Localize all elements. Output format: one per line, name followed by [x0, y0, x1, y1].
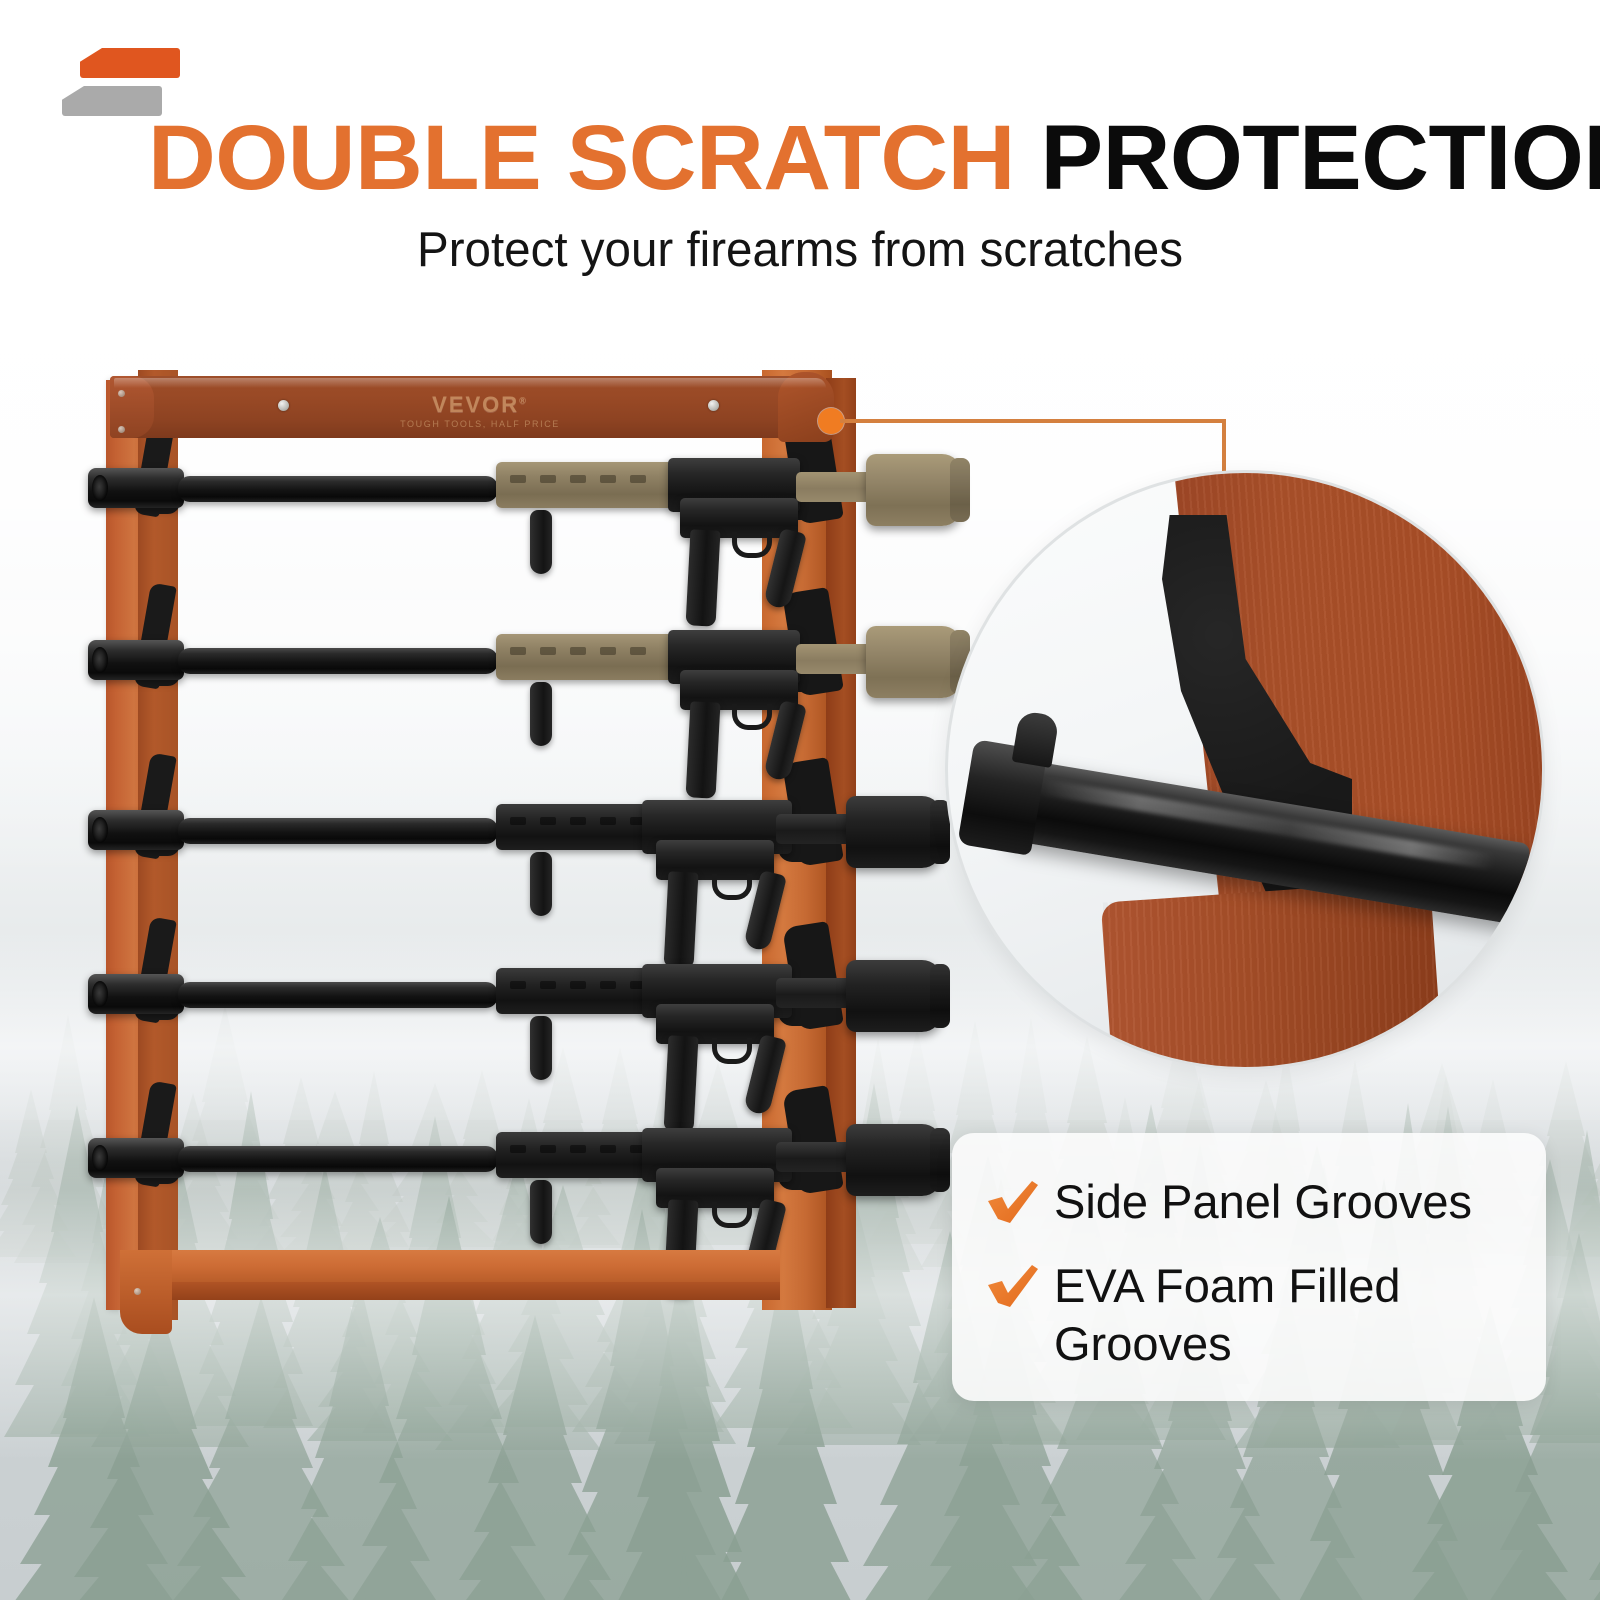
- rifle-handguard: [496, 968, 648, 1014]
- page-title: DOUBLE SCRATCH PROTECTION: [148, 112, 1505, 204]
- headline-accent: DOUBLE SCRATCH: [148, 107, 1015, 209]
- handguard-rail-slot: [600, 981, 616, 989]
- rifle-buffer-tube: [776, 978, 854, 1008]
- rifle-muzzle: [88, 974, 184, 1014]
- rifle-vertical-foregrip: [530, 510, 552, 574]
- rifle-row-3: [60, 768, 900, 938]
- rifle-vertical-foregrip: [530, 852, 552, 916]
- detail-front-sight-lug: [1012, 710, 1060, 768]
- rifle-barrel: [178, 648, 498, 674]
- rifle-barrel: [178, 818, 498, 844]
- handguard-rail-slot: [570, 981, 586, 989]
- checkmark-icon: [986, 1179, 1040, 1225]
- feature-item: Side Panel Grooves: [986, 1173, 1512, 1231]
- headline-primary: PROTECTION: [1041, 107, 1600, 209]
- gun-rack-product: VEVOR® TOUGH TOOLS, HALF PRICE: [90, 370, 880, 1320]
- rifle-stock: [866, 626, 962, 698]
- rifle-row-4: [60, 932, 900, 1102]
- mounting-screw: [118, 426, 125, 433]
- rifle-handguard: [496, 462, 674, 508]
- handguard-rail-slot: [630, 475, 646, 483]
- rifle-stock: [866, 454, 962, 526]
- handguard-rail-slot: [510, 475, 526, 483]
- rifle-buffer-tube: [776, 814, 854, 844]
- rifle-vertical-foregrip: [530, 682, 552, 746]
- handguard-rail-slot: [540, 981, 556, 989]
- mounting-screw: [278, 400, 289, 411]
- rifle-barrel: [178, 476, 498, 502]
- feature-label: Side Panel Grooves: [1054, 1173, 1472, 1231]
- rifle-stock: [846, 796, 942, 868]
- rifle-vertical-foregrip: [530, 1180, 552, 1244]
- handguard-rail-slot: [540, 817, 556, 825]
- rifle-muzzle: [88, 468, 184, 508]
- handguard-rail-slot: [510, 1145, 526, 1153]
- logo-chevron-bottom: [62, 86, 162, 116]
- handguard-rail-slot: [570, 647, 586, 655]
- handguard-rail-slot: [630, 647, 646, 655]
- callout-line-horizontal: [840, 419, 1226, 423]
- product-marketing-image: DOUBLE SCRATCH PROTECTION Protect your f…: [0, 0, 1600, 1600]
- detail-zoom-circle: [945, 470, 1545, 1070]
- rifle-buffer-tube: [796, 472, 874, 502]
- rifle-handguard: [496, 804, 648, 850]
- rifle-trigger-guard: [712, 1038, 752, 1064]
- rifle-trigger-guard: [732, 704, 772, 730]
- handguard-rail-slot: [600, 475, 616, 483]
- rack-bottom-rail: [120, 1250, 780, 1286]
- rack-bottom-rail-edge: [120, 1282, 780, 1300]
- rifle-trigger-guard: [712, 1202, 752, 1228]
- rifle-trigger-guard: [732, 532, 772, 558]
- feature-item: EVA Foam Filled Grooves: [986, 1257, 1512, 1373]
- rack-left-foot: [120, 1250, 172, 1334]
- rifle-stock: [846, 1124, 942, 1196]
- rifle-row-5: [60, 1096, 900, 1266]
- handguard-rail-slot: [510, 817, 526, 825]
- rifle-row-1: [60, 426, 900, 596]
- rack-top-bar-highlight: [114, 378, 826, 388]
- handguard-rail-slot: [570, 475, 586, 483]
- handguard-rail-slot: [570, 817, 586, 825]
- handguard-rail-slot: [540, 475, 556, 483]
- rifle-buffer-tube: [776, 1142, 854, 1172]
- mounting-screw: [134, 1288, 141, 1295]
- handguard-rail-slot: [540, 1145, 556, 1153]
- handguard-rail-slot: [570, 1145, 586, 1153]
- rifle-barrel: [178, 1146, 498, 1172]
- handguard-rail-slot: [510, 647, 526, 655]
- feature-list-box: Side Panel Grooves EVA Foam Filled Groov…: [952, 1133, 1546, 1401]
- handguard-rail-slot: [600, 1145, 616, 1153]
- page-subtitle: Protect your firearms from scratches: [24, 222, 1576, 278]
- mounting-screw: [708, 400, 719, 411]
- rifle-trigger-guard: [712, 874, 752, 900]
- rifle-muzzle: [88, 1138, 184, 1178]
- rifle-buffer-tube: [796, 644, 874, 674]
- rifle-vertical-foregrip: [530, 1016, 552, 1080]
- handguard-rail-slot: [510, 981, 526, 989]
- rifle-muzzle: [88, 640, 184, 680]
- rifle-row-2: [60, 598, 900, 768]
- rifle-handguard: [496, 634, 674, 680]
- feature-label: EVA Foam Filled Grooves: [1054, 1257, 1512, 1373]
- handguard-rail-slot: [600, 817, 616, 825]
- handguard-rail-slot: [540, 647, 556, 655]
- checkmark-icon: [986, 1263, 1040, 1309]
- logo-chevron-top: [80, 48, 180, 78]
- rifle-stock: [846, 960, 942, 1032]
- handguard-rail-slot: [600, 647, 616, 655]
- mounting-screw: [118, 390, 125, 397]
- rifle-muzzle: [88, 810, 184, 850]
- rifle-handguard: [496, 1132, 648, 1178]
- rifle-barrel: [178, 982, 498, 1008]
